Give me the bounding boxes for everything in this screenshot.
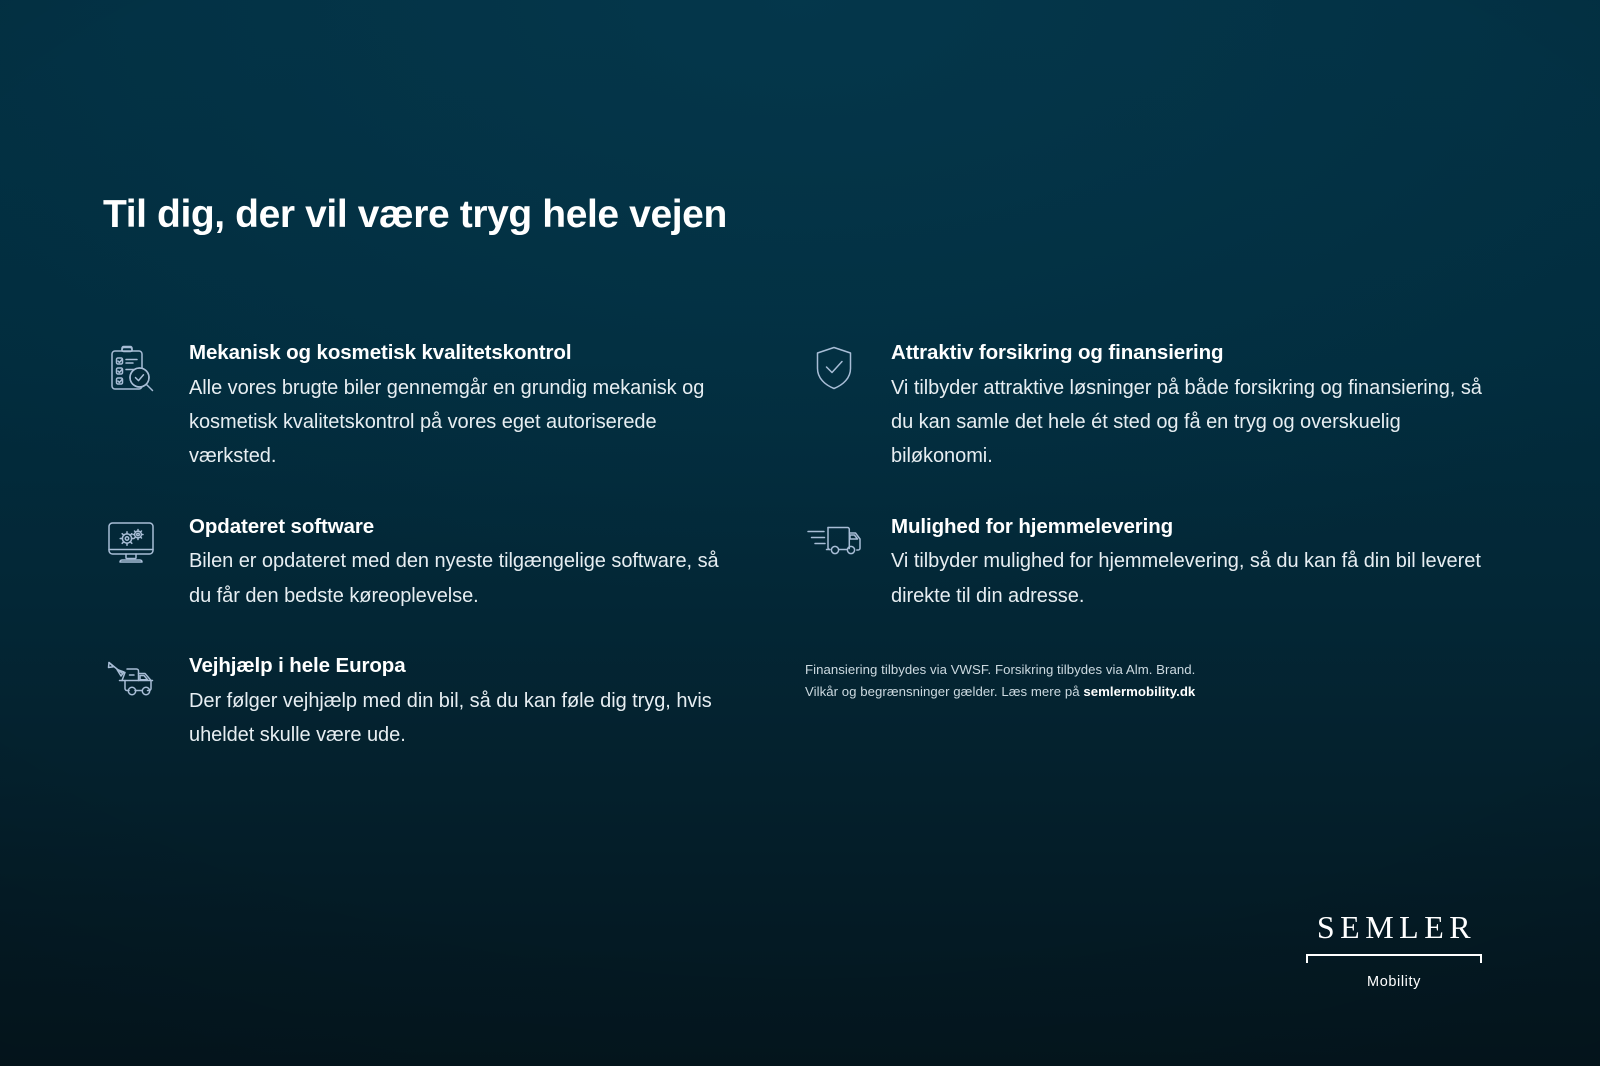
feature-item-insurance-financing: Attraktiv forsikring og finansiering Vi … <box>805 340 1485 474</box>
feature-title: Mekanisk og kosmetisk kvalitetskontrol <box>189 340 743 366</box>
feature-description: Bilen er opdateret med den nyeste tilgæn… <box>189 544 743 613</box>
logo-subtitle: Mobility <box>1306 974 1482 990</box>
feature-item-quality-control: Mekanisk og kosmetisk kvalitetskontrol A… <box>103 340 743 474</box>
logo-divider <box>1306 954 1482 964</box>
feature-title: Vejhjælp i hele Europa <box>189 653 743 679</box>
feature-title: Attraktiv forsikring og finansiering <box>891 340 1485 366</box>
feature-item-updated-software: Opdateret software Bilen er opdateret me… <box>103 514 743 613</box>
legal-line-1: Finansiering tilbydes via VWSF. Forsikri… <box>805 659 1485 680</box>
feature-title: Mulighed for hjemmelevering <box>891 514 1485 540</box>
feature-column-left: Mekanisk og kosmetisk kvalitetskontrol A… <box>103 340 743 753</box>
legal-disclaimer: Finansiering tilbydes via VWSF. Forsikri… <box>805 659 1485 702</box>
feature-item-roadside-assistance: Vejhjælp i hele Europa Der følger vejhjæ… <box>103 653 743 752</box>
logo-divider-tick-right <box>1480 954 1482 963</box>
page-title: Til dig, der vil være tryg hele vejen <box>103 193 727 237</box>
feature-description: Vi tilbyder mulighed for hjemmelevering,… <box>891 544 1485 613</box>
shield-check-icon <box>805 344 863 396</box>
monitor-gears-icon <box>103 518 161 570</box>
promo-panel: Til dig, der vil være tryg hele vejen <box>0 0 1600 1066</box>
delivery-truck-icon <box>805 518 863 570</box>
clipboard-magnifier-icon <box>103 344 161 396</box>
feature-description: Der følger vejhjælp med din bil, så du k… <box>189 684 743 753</box>
logo-wordmark: SEMLER <box>1306 911 1482 943</box>
feature-item-home-delivery: Mulighed for hjemmelevering Vi tilbyder … <box>805 514 1485 613</box>
legal-line-2-prefix: Vilkår og begrænsninger gælder. Læs mere… <box>805 684 1083 699</box>
feature-column-right: Attraktiv forsikring og finansiering Vi … <box>805 340 1485 702</box>
feature-description: Alle vores brugte biler gennemgår en gru… <box>189 371 743 474</box>
feature-description: Vi tilbyder attraktive løsninger på både… <box>891 371 1485 474</box>
feature-title: Opdateret software <box>189 514 743 540</box>
legal-line-2: Vilkår og begrænsninger gælder. Læs mere… <box>805 681 1485 702</box>
logo-divider-tick-left <box>1306 954 1308 963</box>
tow-truck-icon <box>103 657 161 709</box>
semlermobility-link[interactable]: semlermobility.dk <box>1083 684 1195 699</box>
semler-mobility-logo: SEMLER Mobility <box>1306 911 1482 990</box>
